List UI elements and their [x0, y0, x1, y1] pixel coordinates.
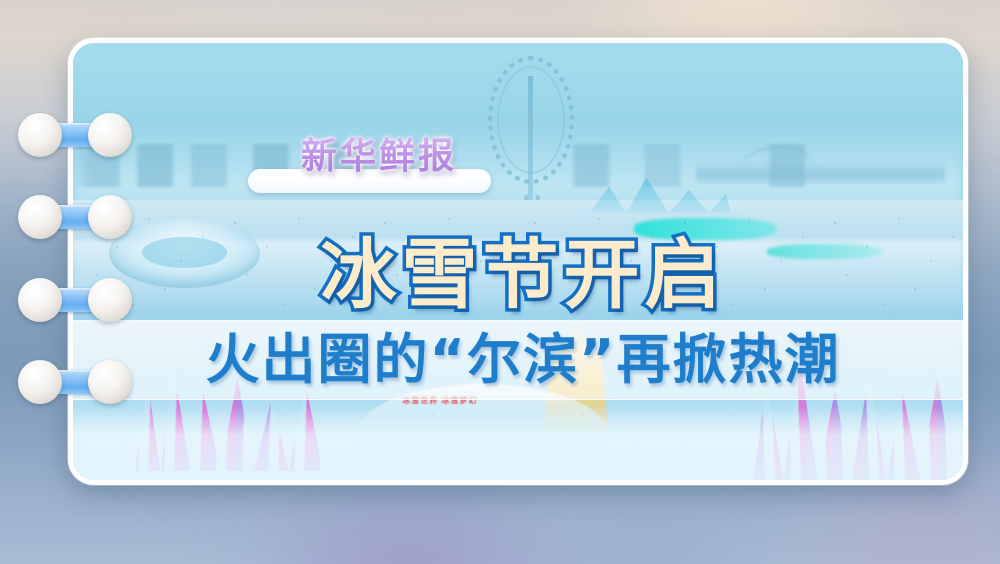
binding-ring-2: [18, 195, 132, 239]
badge-label: 新华鲜报: [269, 134, 489, 180]
photo-bridge: [696, 161, 945, 183]
binding-ring-4: [18, 360, 132, 404]
page-subtitle: 火出圈的“尔滨”再掀热潮: [73, 325, 968, 395]
binding-ring-3: [18, 278, 132, 322]
poster-card: 冰雪世界 冰雪梦幻 新华鲜报 冰雪节开启 火出圈的“尔滨”再掀热潮: [68, 38, 968, 485]
page-title: 冰雪节开启: [73, 229, 968, 321]
footer-bar: XINHUA 新华社国内部出品: [0, 488, 1000, 564]
binding-ring-1: [18, 113, 132, 157]
photo-snowfield: [73, 406, 963, 480]
